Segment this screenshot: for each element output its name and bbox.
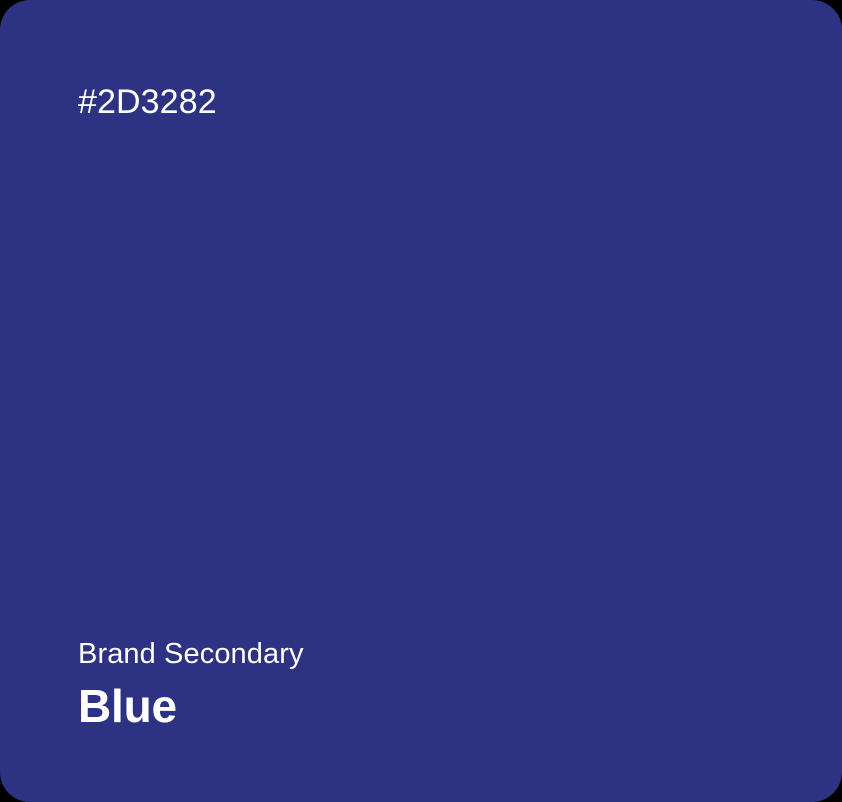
swatch-category-label: Brand Secondary bbox=[78, 638, 304, 672]
color-swatch-card: #2D3282 Brand Secondary Blue bbox=[0, 0, 842, 802]
hex-code-label: #2D3282 bbox=[78, 85, 217, 119]
swatch-color-name: Blue bbox=[78, 682, 304, 730]
swatch-caption: Brand Secondary Blue bbox=[78, 638, 304, 730]
